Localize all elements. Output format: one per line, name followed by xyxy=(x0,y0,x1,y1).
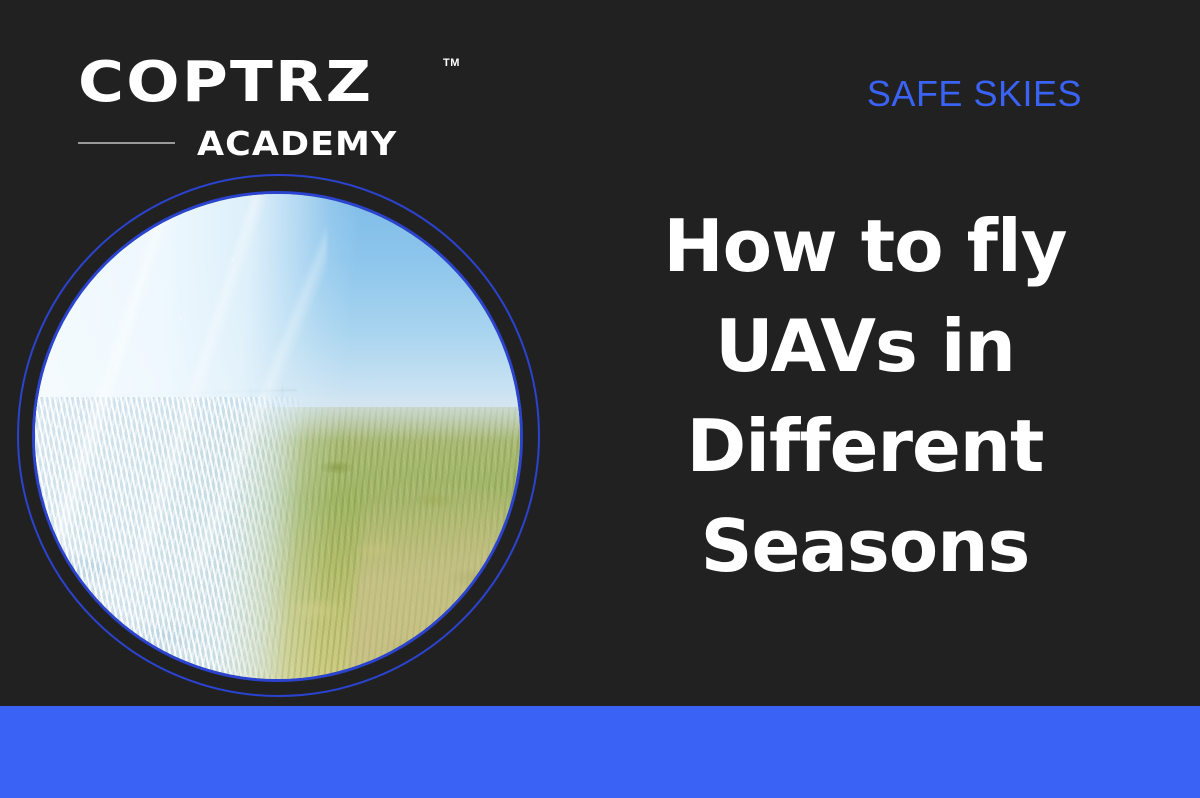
title-line-1: How to fly xyxy=(600,196,1130,296)
title-line-4: Seasons xyxy=(600,496,1130,596)
bottom-accent-bar xyxy=(0,706,1200,798)
logo-subtitle: ACADEMY xyxy=(197,127,397,160)
inner-ring-frame xyxy=(32,191,523,682)
seasonal-landscape-image xyxy=(32,191,523,682)
slide-title: How to fly UAVs in Different Seasons xyxy=(600,196,1130,596)
brand-lockup: COPTRZ TM ACADEMY xyxy=(78,55,478,161)
logo-divider-line xyxy=(78,142,175,144)
title-line-3: Different xyxy=(600,396,1130,496)
logo-wordmark: COPTRZ xyxy=(78,55,373,111)
trademark-icon: TM xyxy=(443,57,460,69)
circular-photo xyxy=(17,174,540,697)
tagline-text: SAFE SKIES xyxy=(867,74,1082,114)
light-streaks xyxy=(32,191,327,574)
logo-subtitle-row: ACADEMY xyxy=(78,125,478,161)
presentation-slide: COPTRZ TM ACADEMY SAFE SKIES xyxy=(0,0,1200,798)
logo-wordmark-row: COPTRZ TM xyxy=(78,55,478,111)
title-line-2: UAVs in xyxy=(600,296,1130,396)
